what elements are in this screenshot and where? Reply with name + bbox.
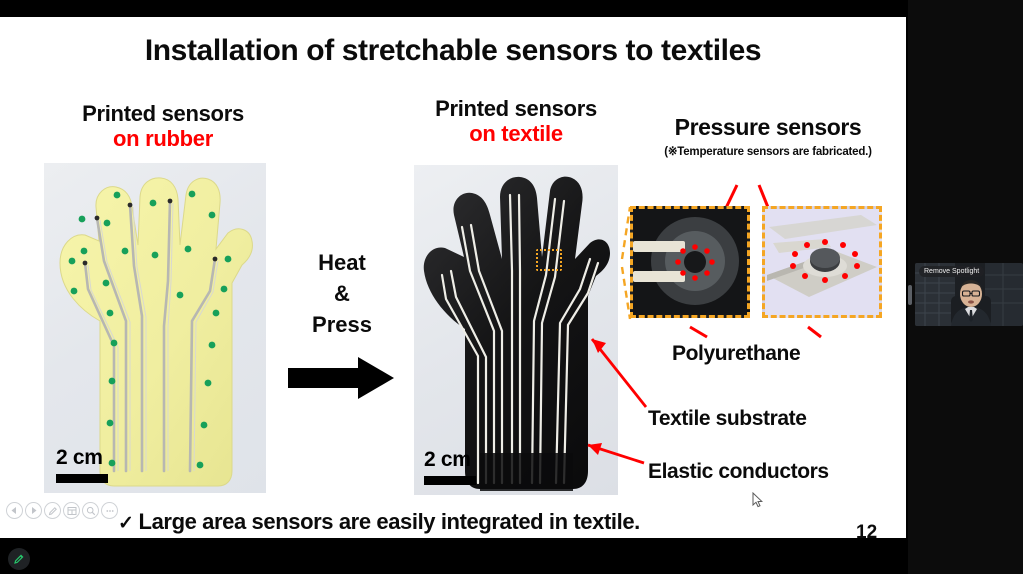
inset-source-marker (536, 249, 562, 271)
zoom-icon[interactable] (82, 502, 99, 519)
inset-photo-pressure-sensor (630, 206, 750, 318)
slide-annotation-toolbar[interactable] (6, 502, 118, 519)
panel-resize-handle[interactable] (908, 285, 912, 305)
heading-pressure-sensors: Pressure sensors (※Temperature sensors a… (630, 114, 906, 158)
heading-rubber-line1: Printed sensors (28, 102, 298, 127)
textile-glove-illustration (418, 171, 614, 491)
presentation-slide[interactable]: Installation of stretchable sensors to t… (0, 17, 906, 538)
label-polyurethane: Polyurethane (672, 342, 800, 366)
inset-schematic-pressure-sensor (762, 206, 882, 318)
scale-bar-rubber-label: 2 cm (56, 446, 103, 469)
remove-spotlight-button[interactable]: Remove Spotlight (919, 266, 984, 277)
rubber-glove-illustration (52, 171, 258, 489)
pressure-subnote-text: (※Temperature sensors are fabricated.) (630, 144, 906, 158)
more-icon[interactable] (101, 502, 118, 519)
label-textile-substrate: Textile substrate (648, 407, 807, 431)
check-icon: ✓ (118, 513, 134, 534)
scale-bar-textile-line (424, 476, 476, 485)
scale-bar-rubber-line (56, 474, 108, 483)
heading-textile-line2: on textile (398, 122, 634, 147)
annotate-pencil-icon[interactable] (8, 548, 30, 570)
conclusion-text: Large area sensors are easily integrated… (139, 509, 640, 534)
process-line-heat: Heat (286, 247, 398, 278)
scale-bar-rubber: 2 cm (56, 446, 108, 483)
process-heat-and-press: Heat & Press (286, 247, 398, 341)
previous-slide-icon[interactable] (6, 502, 23, 519)
pressure-heading-text: Pressure sensors (630, 114, 906, 141)
participant-video-strip: Remove Spotlight (908, 0, 1023, 574)
page-number: 12 (856, 522, 877, 538)
shared-screen-region: Installation of stretchable sensors to t… (0, 0, 908, 574)
heading-printed-sensors-on-textile: Printed sensors on textile (398, 97, 634, 146)
heading-printed-sensors-on-rubber: Printed sensors on rubber (28, 102, 298, 151)
next-slide-icon[interactable] (25, 502, 42, 519)
label-elastic-conductors: Elastic conductors (648, 460, 829, 484)
heading-rubber-line2: on rubber (28, 127, 298, 152)
heading-textile-line1: Printed sensors (398, 97, 634, 122)
scale-bar-textile-label: 2 cm (424, 448, 471, 471)
mouse-cursor (752, 492, 763, 508)
photo-printed-sensors-on-rubber: 2 cm (44, 163, 266, 493)
slide-title: Installation of stretchable sensors to t… (0, 34, 906, 68)
photo-printed-sensors-on-textile: 2 cm (414, 165, 618, 495)
pencil-icon[interactable] (44, 502, 61, 519)
app-window: Installation of stretchable sensors to t… (0, 0, 1023, 574)
process-line-press: Press (286, 309, 398, 340)
scale-bar-textile: 2 cm (424, 448, 476, 485)
layout-icon[interactable] (63, 502, 80, 519)
right-arrow-icon (288, 355, 396, 401)
participant-video-tile[interactable]: Remove Spotlight (915, 263, 1023, 326)
process-line-ampersand: & (286, 278, 398, 309)
slide-conclusion: ✓Large area sensors are easily integrate… (118, 509, 768, 535)
